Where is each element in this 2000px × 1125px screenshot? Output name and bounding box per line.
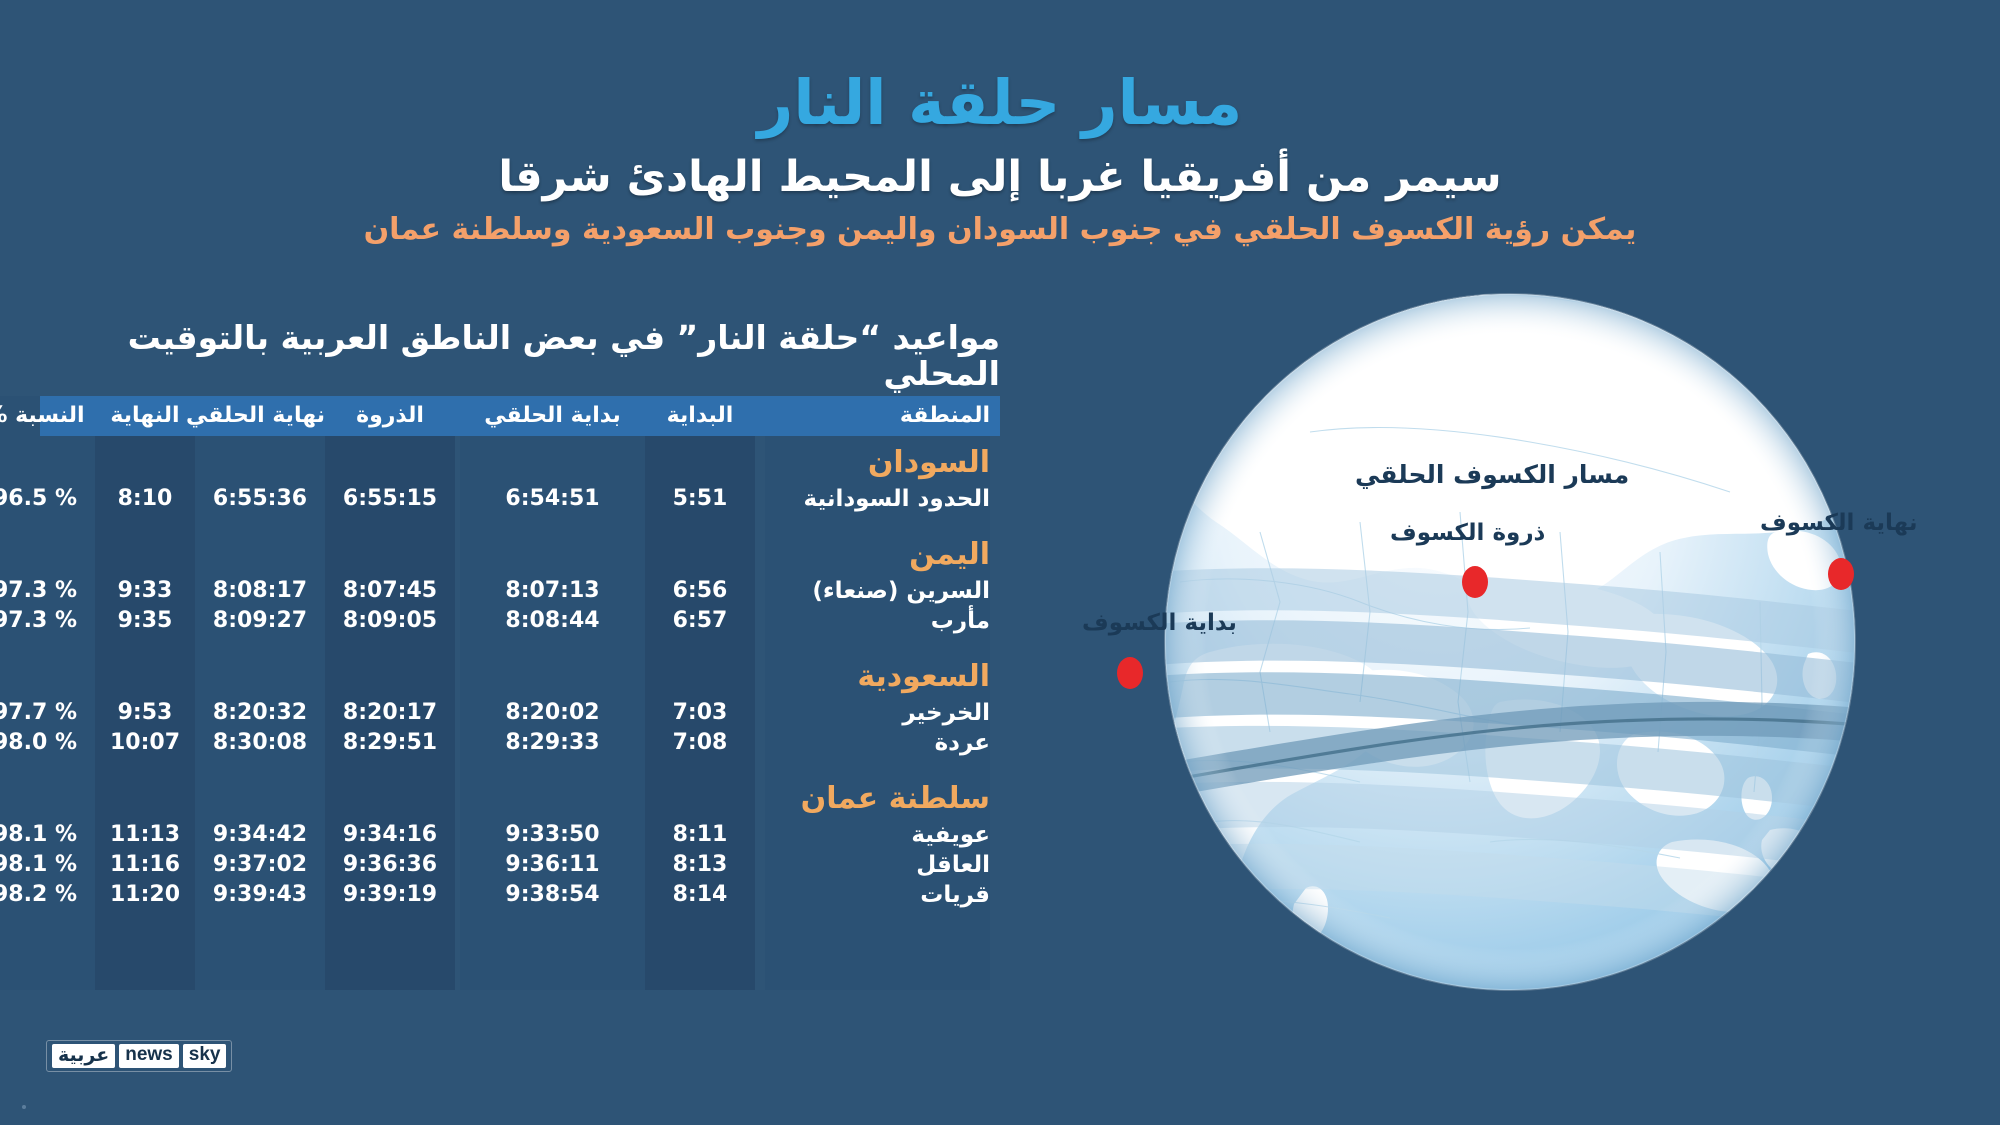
cell-ring_start: 8:29:33: [460, 728, 645, 758]
cell-region: عويفية: [765, 820, 990, 850]
cell-region: السرين (صنعاء): [765, 576, 990, 606]
cell-percent: % 97.7: [0, 698, 95, 728]
cell-ring_start: 8:20:02: [460, 698, 645, 728]
section-header-row: اليمن: [40, 528, 1000, 576]
globe-contents: [1060, 294, 1960, 1002]
cell-region: قريات: [765, 880, 990, 910]
cell-ring_start: 8:07:13: [460, 576, 645, 606]
table-row: العاقل8:139:36:119:36:369:37:0211:16% 98…: [40, 850, 1000, 880]
cell-start: 7:08: [645, 728, 755, 758]
cell-ring_end: 9:34:42: [195, 820, 325, 850]
cell-percent: % 96.5: [0, 484, 95, 514]
section-gap: [40, 636, 1000, 650]
table-row: السرين (صنعاء)6:568:07:138:07:458:08:179…: [40, 576, 1000, 606]
timings-table: المنطقةالبدايةبداية الحلقيالذروةنهاية ال…: [40, 396, 1000, 990]
cell-percent: % 98.0: [0, 728, 95, 758]
cell-ring_start: 9:38:54: [460, 880, 645, 910]
table-header-ring_end: نهاية الحلقي: [195, 396, 325, 436]
cell-end: 9:33: [95, 576, 195, 606]
table-header-percent: النسبة %: [0, 396, 95, 436]
earth-globe-svg: [1060, 282, 1960, 1002]
table-row: مأرب6:578:08:448:09:058:09:279:35% 97.3: [40, 606, 1000, 636]
section-header-row: السعودية: [40, 650, 1000, 698]
cell-percent: % 97.3: [0, 576, 95, 606]
marker-dot-start: [1117, 657, 1143, 689]
cell-start: 8:14: [645, 880, 755, 910]
table-row: الخرخير7:038:20:028:20:178:20:329:53% 97…: [40, 698, 1000, 728]
cell-ring_start: 9:36:11: [460, 850, 645, 880]
table-body: السودانالحدود السودانية5:516:54:516:55:1…: [40, 436, 1000, 910]
cell-ring_end: 8:20:32: [195, 698, 325, 728]
section-header-row: السودان: [40, 436, 1000, 484]
cell-start: 6:57: [645, 606, 755, 636]
timings-table-block: مواعيد “حلقة النار” في بعض الناطق العربي…: [40, 320, 1000, 990]
cell-ring_end: 8:08:17: [195, 576, 325, 606]
section-label-2: السعودية: [765, 650, 990, 698]
cell-end: 9:35: [95, 606, 195, 636]
marker-dot-peak: [1462, 566, 1488, 598]
cell-region: مأرب: [765, 606, 990, 636]
cell-start: 5:51: [645, 484, 755, 514]
cell-region: الحدود السودانية: [765, 484, 990, 514]
table-header-row: المنطقةالبدايةبداية الحلقيالذروةنهاية ال…: [40, 396, 1000, 436]
table-row: الحدود السودانية5:516:54:516:55:156:55:3…: [40, 484, 1000, 514]
cell-percent: % 98.1: [0, 850, 95, 880]
cell-ring_end: 8:30:08: [195, 728, 325, 758]
cell-peak: 8:20:17: [325, 698, 455, 728]
page-title: مسار حلقة النار: [0, 72, 2000, 134]
logo-news: news: [119, 1044, 179, 1068]
table-header-region: المنطقة: [747, 396, 990, 436]
cell-ring_end: 9:39:43: [195, 880, 325, 910]
cell-ring_end: 9:37:02: [195, 850, 325, 880]
marker-label-end: نهاية الكسوف: [1760, 512, 1918, 535]
page-note: يمكن رؤية الكسوف الحلقي في جنوب السودان …: [0, 215, 2000, 245]
cell-ring_end: 8:09:27: [195, 606, 325, 636]
cell-percent: % 98.1: [0, 820, 95, 850]
marker-dot-end: [1828, 558, 1854, 590]
cell-peak: 6:55:15: [325, 484, 455, 514]
marker-label-peak: ذروة الكسوف: [1390, 522, 1545, 545]
page-subtitle: سيمر من أفريقيا غربا إلى المحيط الهادئ ش…: [0, 156, 2000, 199]
table-header-peak: الذروة: [325, 396, 455, 436]
cell-ring_start: 9:33:50: [460, 820, 645, 850]
cell-start: 8:11: [645, 820, 755, 850]
cell-peak: 9:36:36: [325, 850, 455, 880]
table-caption: مواعيد “حلقة النار” في بعض الناطق العربي…: [40, 320, 1000, 393]
section-label-0: السودان: [765, 436, 990, 484]
cell-region: عردة: [765, 728, 990, 758]
section-label-3: سلطنة عمان: [765, 772, 990, 820]
marker-label-start: بداية الكسوف: [1082, 612, 1237, 635]
cell-ring_start: 6:54:51: [460, 484, 645, 514]
eclipse-path-title: مسار الكسوف الحلقي: [1355, 462, 1629, 487]
cell-ring_end: 6:55:36: [195, 484, 325, 514]
section-gap: [40, 758, 1000, 772]
cell-peak: 8:07:45: [325, 576, 455, 606]
globe-figure: مسار الكسوف الحلقي بداية الكسوف ذروة الك…: [1060, 282, 1960, 1002]
table-header-ring_start: بداية الحلقي: [460, 396, 645, 436]
corner-marker: [22, 1105, 26, 1109]
cell-end: 8:10: [95, 484, 195, 514]
cell-peak: 8:29:51: [325, 728, 455, 758]
cell-region: العاقل: [765, 850, 990, 880]
section-header-row: سلطنة عمان: [40, 772, 1000, 820]
cell-start: 7:03: [645, 698, 755, 728]
cell-end: 9:53: [95, 698, 195, 728]
cell-ring_start: 8:08:44: [460, 606, 645, 636]
section-label-1: اليمن: [765, 528, 990, 576]
table-header-start: البداية: [645, 396, 755, 436]
cell-region: الخرخير: [765, 698, 990, 728]
table-row: عويفية8:119:33:509:34:169:34:4211:13% 98…: [40, 820, 1000, 850]
cell-start: 6:56: [645, 576, 755, 606]
cell-start: 8:13: [645, 850, 755, 880]
table-header-end: النهاية: [95, 396, 195, 436]
section-gap: [40, 514, 1000, 528]
logo-sky: sky: [183, 1044, 227, 1068]
cell-peak: 8:09:05: [325, 606, 455, 636]
cell-end: 10:07: [95, 728, 195, 758]
logo-arabia: عربية: [52, 1044, 115, 1068]
sky-news-arabia-logo: sky news عربية: [46, 1040, 232, 1072]
cell-percent: % 97.3: [0, 606, 95, 636]
cell-peak: 9:34:16: [325, 820, 455, 850]
cell-end: 11:20: [95, 880, 195, 910]
infographic-canvas: مسار حلقة النار سيمر من أفريقيا غربا إلى…: [0, 0, 2000, 1125]
cell-peak: 9:39:19: [325, 880, 455, 910]
table-row: قريات8:149:38:549:39:199:39:4311:20% 98.…: [40, 880, 1000, 910]
cell-percent: % 98.2: [0, 880, 95, 910]
cell-end: 11:13: [95, 820, 195, 850]
table-row: عردة7:088:29:338:29:518:30:0810:07% 98.0: [40, 728, 1000, 758]
cell-end: 11:16: [95, 850, 195, 880]
